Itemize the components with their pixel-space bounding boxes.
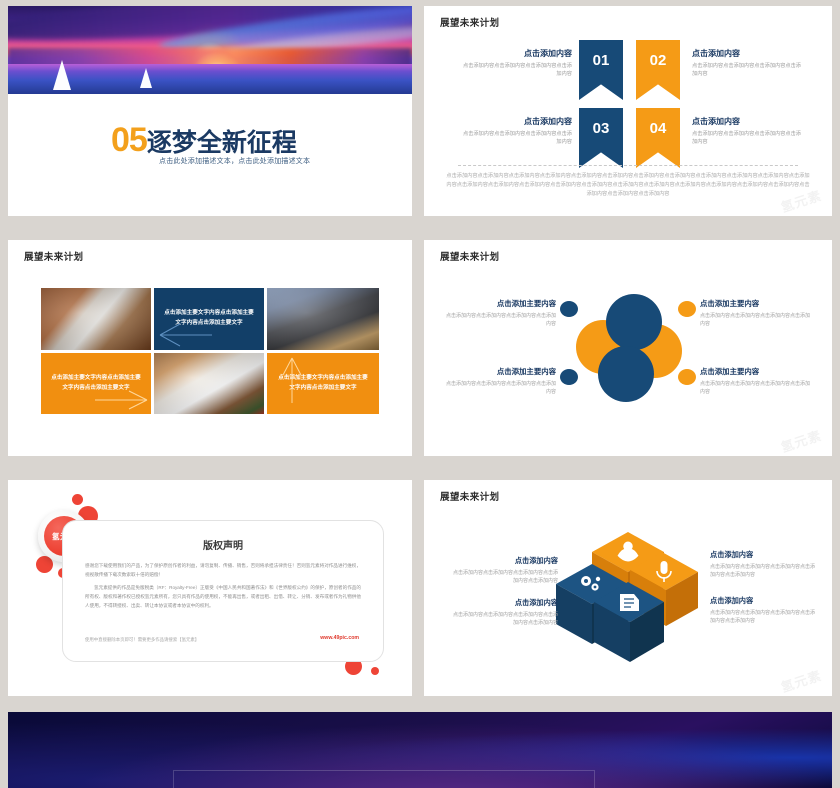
slide-thumbnail-grid: 05逐梦全新征程 点击此处添加描述文本，点击此处添加描述文本 展望未来计划 01… <box>0 0 840 788</box>
page-title: 展望未来计划 <box>440 489 499 503</box>
arrow-up-icon <box>279 355 305 405</box>
ribbon-body: 点击添加内容点击添加内容点击添加内容点击添加内容 <box>692 62 802 78</box>
slide-thumbnail-pinwheel[interactable]: 展望未来计划 点击添加主要内容 点击添加内容点击添加内容点击添加内容点击添加内容… <box>424 240 832 456</box>
watermark: 氢元素 <box>778 665 824 696</box>
ribbon-text-01: 点击添加内容 点击添加内容点击添加内容点击添加内容点击添加内容 <box>462 48 572 78</box>
cube-item-3: 点击添加内容 点击添加内容点击添加内容点击添加内容点击添加内容点击添加内容 <box>450 598 558 627</box>
slide-thumbnail-partial-dark[interactable] <box>8 712 832 788</box>
item-body: 点击添加内容点击添加内容点击添加内容点击添加内容 <box>444 380 556 396</box>
slide-thumbnail-ribbons[interactable]: 展望未来计划 01 02 03 04 点击添加内容 点击添加内容点击添加内容点击… <box>424 6 832 216</box>
photo-overlay <box>41 288 151 350</box>
cover-subtitle: 点击此处添加描述文本，点击此处添加描述文本 <box>159 156 310 166</box>
slide-thumbnail-cubes[interactable]: 展望未来计划 <box>424 480 832 696</box>
item-heading: 点击添加内容 <box>450 556 558 566</box>
page-title: 展望未来计划 <box>440 249 499 263</box>
copyright-title: 版权声明 <box>63 537 383 552</box>
ribbon-02[interactable]: 02 <box>636 40 680 100</box>
mosaic-text-cell-1[interactable]: 点击添加主要文字内容点击添加主要文字内容点击添加主要文字 <box>154 288 264 350</box>
pinwheel-circle-bottom[interactable] <box>598 346 654 402</box>
pinwheel-diagram <box>576 294 686 404</box>
item-body: 点击添加内容点击添加内容点击添加内容点击添加内容 <box>700 312 812 328</box>
ribbon-body: 点击添加内容点击添加内容点击添加内容点击添加内容 <box>692 130 802 146</box>
ribbon-text-03: 点击添加内容 点击添加内容点击添加内容点击添加内容点击添加内容 <box>462 116 572 146</box>
slide-thumbnail-cover[interactable]: 05逐梦全新征程 点击此处添加描述文本，点击此处添加描述文本 <box>8 6 412 216</box>
decor-bubble <box>371 667 379 675</box>
pinwheel-item-1: 点击添加主要内容 点击添加内容点击添加内容点击添加内容点击添加内容 <box>444 298 556 328</box>
copyright-paragraph-1: 感谢您下载使用我们的产品，为了保护原创作者的利益，请勿复制、传播、销售，否则将承… <box>85 561 361 579</box>
item-heading: 点击添加主要内容 <box>444 298 556 309</box>
item-heading: 点击添加内容 <box>710 550 818 560</box>
pinwheel-item-4: 点击添加主要内容 点击添加内容点击添加内容点击添加内容点击添加内容 <box>700 366 812 396</box>
cover-heading: 逐梦全新征程 <box>147 131 297 156</box>
mosaic-text-cell-3[interactable]: 点击添加主要文字内容点击添加主要文字内容点击添加主要文字 <box>267 353 379 414</box>
slide-thumbnail-copyright[interactable]: 氢元素 版权声明 感谢您下载使用我们的产品，为了保护原创作者的利益，请勿复制、传… <box>8 480 412 696</box>
ribbon-heading: 点击添加内容 <box>692 116 802 127</box>
ribbon-heading: 点击添加内容 <box>462 116 572 127</box>
item-body: 点击添加内容点击添加内容点击添加内容点击添加内容点击添加内容 <box>710 563 818 579</box>
legend-dot-orange <box>678 369 696 385</box>
legend-dot-navy <box>560 369 578 385</box>
sailboat-icon <box>53 60 71 90</box>
cover-section-number: 05 <box>111 123 147 157</box>
partial-slide-frame <box>173 770 595 788</box>
ribbon-heading: 点击添加内容 <box>692 48 802 59</box>
divider <box>458 165 798 166</box>
arrow-right-icon <box>93 389 151 411</box>
cube-item-1: 点击添加内容 点击添加内容点击添加内容点击添加内容点击添加内容点击添加内容 <box>450 556 558 585</box>
slide-thumbnail-mosaic[interactable]: 展望未来计划 点击添加主要文字内容点击添加主要文字内容点击添加主要文字 点击添加… <box>8 240 412 456</box>
ribbon-01[interactable]: 01 <box>579 40 623 100</box>
item-body: 点击添加内容点击添加内容点击添加内容点击添加内容 <box>444 312 556 328</box>
ribbon-text-04: 点击添加内容 点击添加内容点击添加内容点击添加内容点击添加内容 <box>692 116 802 146</box>
image-mosaic: 点击添加主要文字内容点击添加主要文字内容点击添加主要文字 点击添加主要文字内容点… <box>41 288 379 414</box>
item-heading: 点击添加主要内容 <box>444 366 556 377</box>
pinwheel-item-3: 点击添加主要内容 点击添加内容点击添加内容点击添加内容点击添加内容 <box>444 366 556 396</box>
arrow-left-icon <box>158 322 214 348</box>
pinwheel-item-2: 点击添加主要内容 点击添加内容点击添加内容点击添加内容点击添加内容 <box>700 298 812 328</box>
cover-hero-image <box>8 6 412 94</box>
copyright-paragraph-2: 氢元素提供的作品是免版税类（RF：Royalty-Free）正版受《中国人民共和… <box>85 583 361 611</box>
item-heading: 点击添加主要内容 <box>700 366 812 377</box>
isometric-cubes-diagram <box>552 522 712 672</box>
page-title: 展望未来计划 <box>440 15 499 29</box>
ribbon-body: 点击添加内容点击添加内容点击添加内容点击添加内容 <box>462 62 572 78</box>
item-body: 点击添加内容点击添加内容点击添加内容点击添加内容点击添加内容 <box>450 569 558 585</box>
cube-item-4: 点击添加内容 点击添加内容点击添加内容点击添加内容点击添加内容点击添加内容 <box>710 596 818 625</box>
cover-title-block: 05逐梦全新征程 点击此处添加描述文本，点击此处添加描述文本 <box>111 123 297 157</box>
pinwheel-circle-top[interactable] <box>606 294 662 350</box>
item-body: 点击添加内容点击添加内容点击添加内容点击添加内容点击添加内容 <box>450 611 558 627</box>
decor-bubble <box>72 494 83 505</box>
sailboat-icon <box>140 68 152 88</box>
ribbon-footer-text: 点击添加内容点击添加内容点击添加内容点击添加内容点击添加内容点击添加内容点击添加… <box>446 172 810 199</box>
coffee-desk-photo[interactable] <box>154 353 264 414</box>
item-heading: 点击添加内容 <box>710 596 818 606</box>
ribbon-text-02: 点击添加内容 点击添加内容点击添加内容点击添加内容点击添加内容 <box>692 48 802 78</box>
page-title: 展望未来计划 <box>24 249 83 263</box>
ribbon-03[interactable]: 03 <box>579 108 623 168</box>
cube-item-2: 点击添加内容 点击添加内容点击添加内容点击添加内容点击添加内容点击添加内容 <box>710 550 818 579</box>
item-heading: 点击添加内容 <box>450 598 558 608</box>
item-body: 点击添加内容点击添加内容点击添加内容点击添加内容 <box>700 380 812 396</box>
copyright-card: 版权声明 感谢您下载使用我们的产品，为了保护原创作者的利益，请勿复制、传播、销售… <box>62 520 384 662</box>
copyright-url[interactable]: www.49pic.com <box>320 635 359 641</box>
watermark: 氢元素 <box>778 425 824 456</box>
mosaic-text-cell-2[interactable]: 点击添加主要文字内容点击添加主要文字内容点击添加主要文字 <box>41 353 151 414</box>
writing-notebook-photo[interactable] <box>267 288 379 350</box>
legend-dot-orange <box>678 301 696 317</box>
item-body: 点击添加内容点击添加内容点击添加内容点击添加内容点击添加内容 <box>710 609 818 625</box>
laptop-meeting-photo[interactable] <box>41 288 151 350</box>
photo-overlay <box>154 353 264 414</box>
ribbon-heading: 点击添加内容 <box>462 48 572 59</box>
ribbon-body: 点击添加内容点击添加内容点击添加内容点击添加内容 <box>462 130 572 146</box>
photo-overlay <box>267 288 379 350</box>
item-heading: 点击添加主要内容 <box>700 298 812 309</box>
legend-dot-navy <box>560 301 578 317</box>
ribbon-04[interactable]: 04 <box>636 108 680 168</box>
